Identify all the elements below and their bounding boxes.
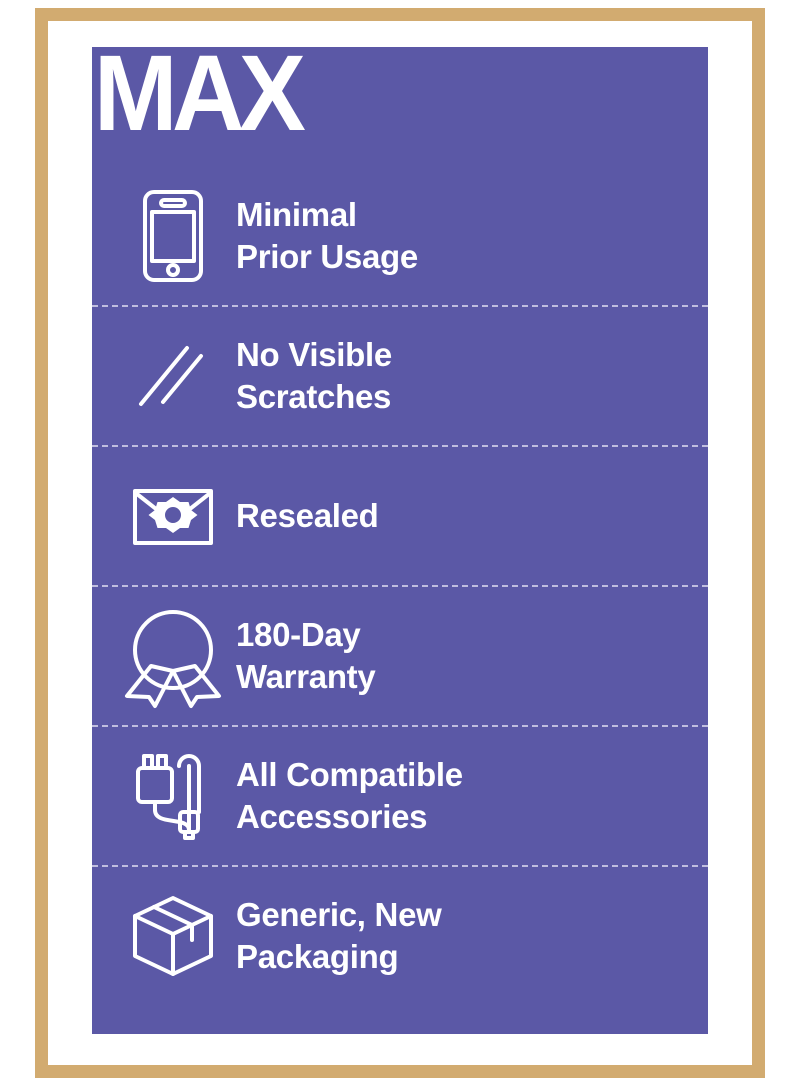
feature-label: No Visible Scratches (234, 334, 708, 418)
feature-list: Minimal Prior Usage No Visible Scratches (92, 167, 708, 1005)
condition-infographic: MAX Minimal Prior Usage (0, 0, 800, 1091)
sealed-envelope-icon (112, 485, 234, 547)
feature-label: 180-Day Warranty (234, 614, 708, 698)
feature-label: All Compatible Accessories (234, 754, 708, 838)
feature-label: Resealed (234, 495, 708, 537)
feature-row: 180-Day Warranty (92, 587, 708, 725)
feature-label: Generic, New Packaging (234, 894, 708, 978)
award-ribbon-icon (112, 604, 234, 708)
feature-row: No Visible Scratches (92, 307, 708, 445)
scratches-icon (112, 340, 234, 412)
usb-cable-icon (112, 750, 234, 842)
package-box-icon (112, 892, 234, 980)
feature-row: All Compatible Accessories (92, 727, 708, 865)
feature-row: Generic, New Packaging (92, 867, 708, 1005)
feature-row: Resealed (92, 447, 708, 585)
brand-wordmark: MAX (92, 47, 667, 147)
feature-row: Minimal Prior Usage (92, 167, 708, 305)
feature-label: Minimal Prior Usage (234, 194, 708, 278)
smartphone-icon (112, 188, 234, 284)
purple-content-panel: MAX Minimal Prior Usage (92, 47, 708, 1034)
